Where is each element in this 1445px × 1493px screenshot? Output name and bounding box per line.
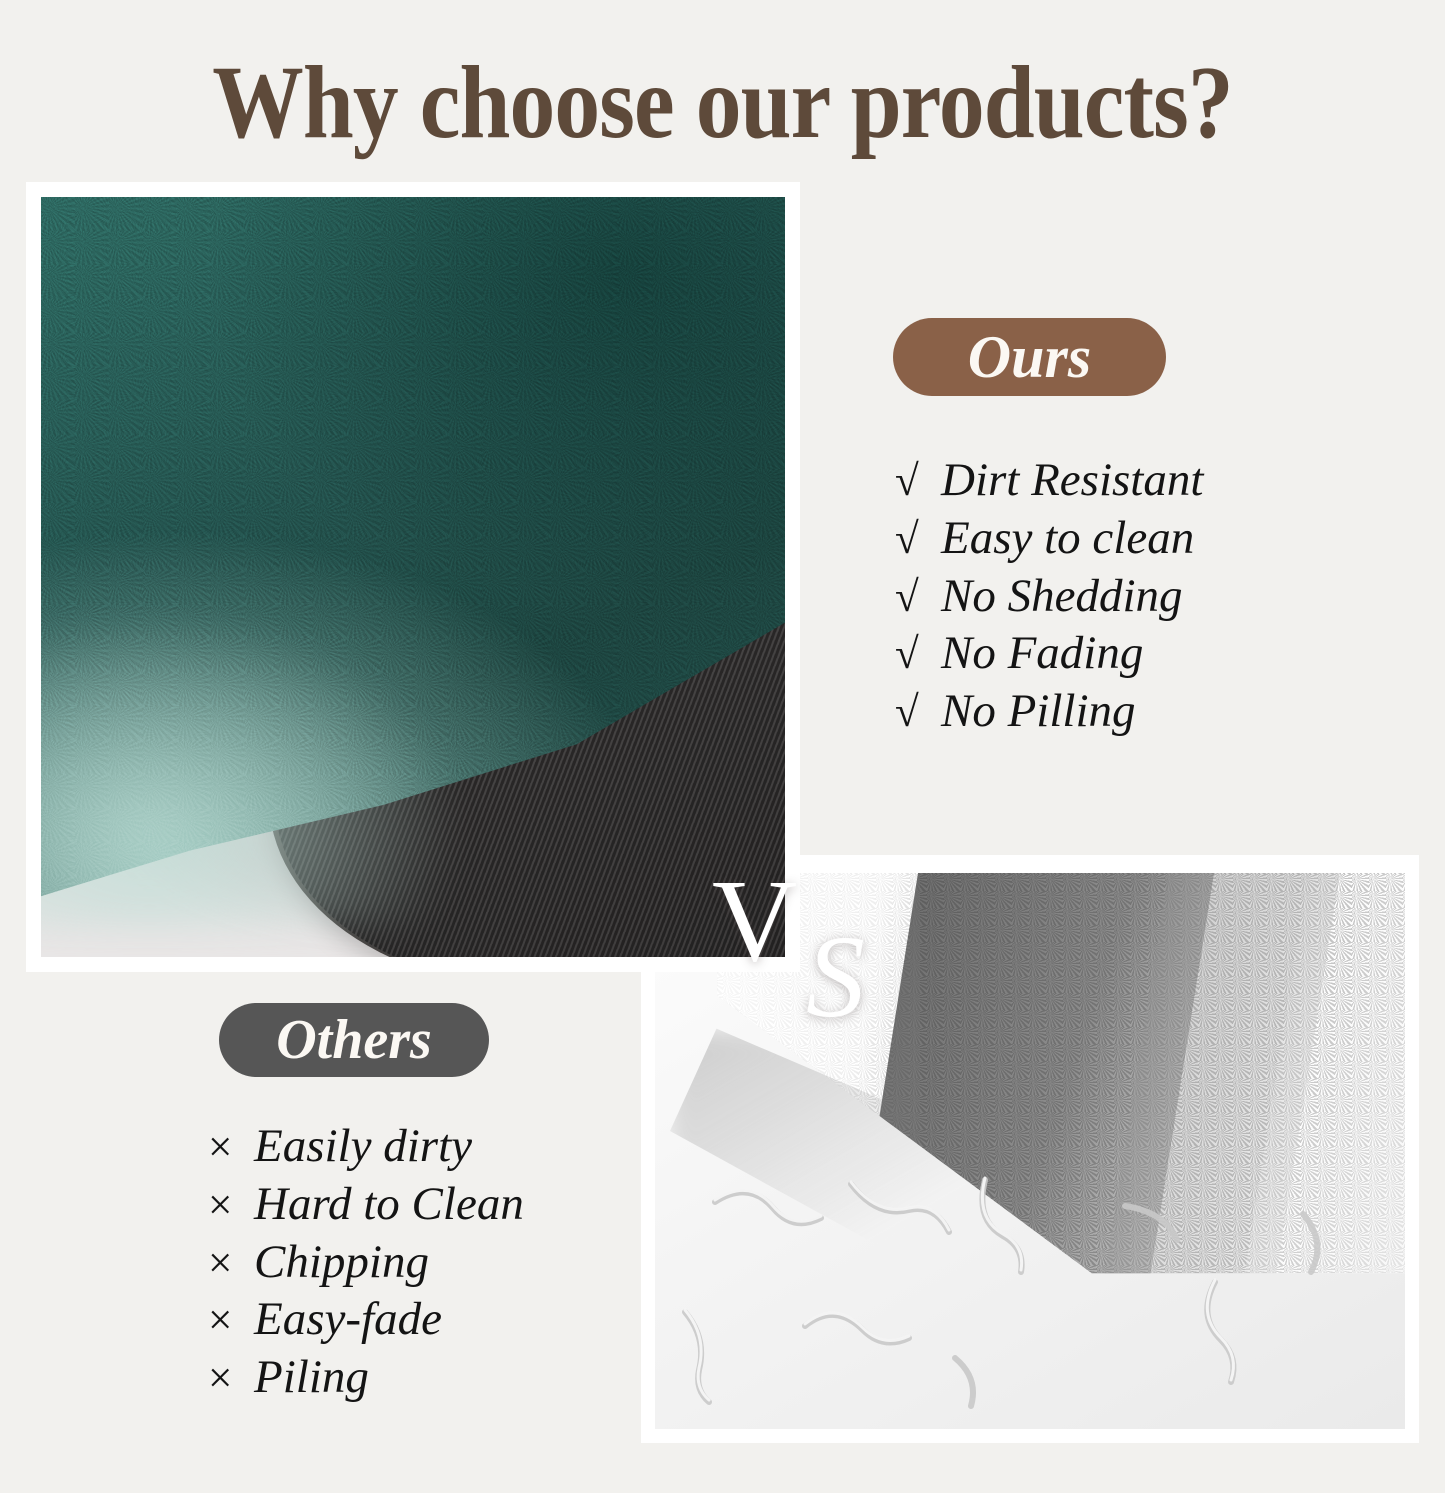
check-icon: √ [895, 628, 941, 681]
page-title: Why choose our products? [87, 48, 1359, 157]
list-item-label: Easy to clean [941, 510, 1194, 568]
check-icon: √ [895, 571, 941, 624]
list-item: × Hard to Clean [208, 1176, 524, 1234]
list-item-label: Dirt Resistant [941, 452, 1203, 510]
list-item-label: Chipping [254, 1234, 429, 1292]
list-item: √ No Fading [895, 625, 1203, 683]
cross-icon: × [208, 1179, 254, 1232]
comparison-infographic: Why choose our products? [0, 0, 1445, 1493]
list-item-label: No Fading [941, 625, 1143, 683]
list-item-label: Easy-fade [254, 1291, 442, 1349]
list-item-label: Easily dirty [254, 1118, 472, 1176]
check-icon: √ [895, 686, 941, 739]
ours-feature-list: √ Dirt Resistant √ Easy to clean √ No Sh… [895, 452, 1203, 741]
list-item-label: Piling [254, 1349, 369, 1407]
list-item-label: No Shedding [941, 568, 1183, 626]
others-feature-list: × Easily dirty × Hard to Clean × Chippin… [208, 1118, 524, 1407]
mat-fold-highlight [41, 607, 473, 926]
list-item-label: No Pilling [941, 683, 1136, 741]
ours-badge-label: Ours [968, 323, 1091, 392]
cross-icon: × [208, 1121, 254, 1174]
list-item: √ Easy to clean [895, 510, 1203, 568]
list-item: × Piling [208, 1349, 524, 1407]
ours-badge: Ours [893, 318, 1166, 396]
check-icon: √ [895, 513, 941, 566]
check-icon: √ [895, 455, 941, 508]
list-item-label: Hard to Clean [254, 1176, 524, 1234]
ours-product-photo [41, 197, 785, 957]
others-badge-label: Others [276, 1008, 432, 1072]
others-badge: Others [219, 1003, 489, 1077]
list-item: √ Dirt Resistant [895, 452, 1203, 510]
cross-icon: × [208, 1237, 254, 1290]
list-item: × Chipping [208, 1234, 524, 1292]
ours-photo-frame [26, 182, 800, 972]
shed-fiber-strands-icon [655, 1162, 1405, 1429]
list-item: √ No Pilling [895, 683, 1203, 741]
list-item: √ No Shedding [895, 568, 1203, 626]
cross-icon: × [208, 1352, 254, 1405]
list-item: × Easy-fade [208, 1291, 524, 1349]
cross-icon: × [208, 1294, 254, 1347]
list-item: × Easily dirty [208, 1118, 524, 1176]
